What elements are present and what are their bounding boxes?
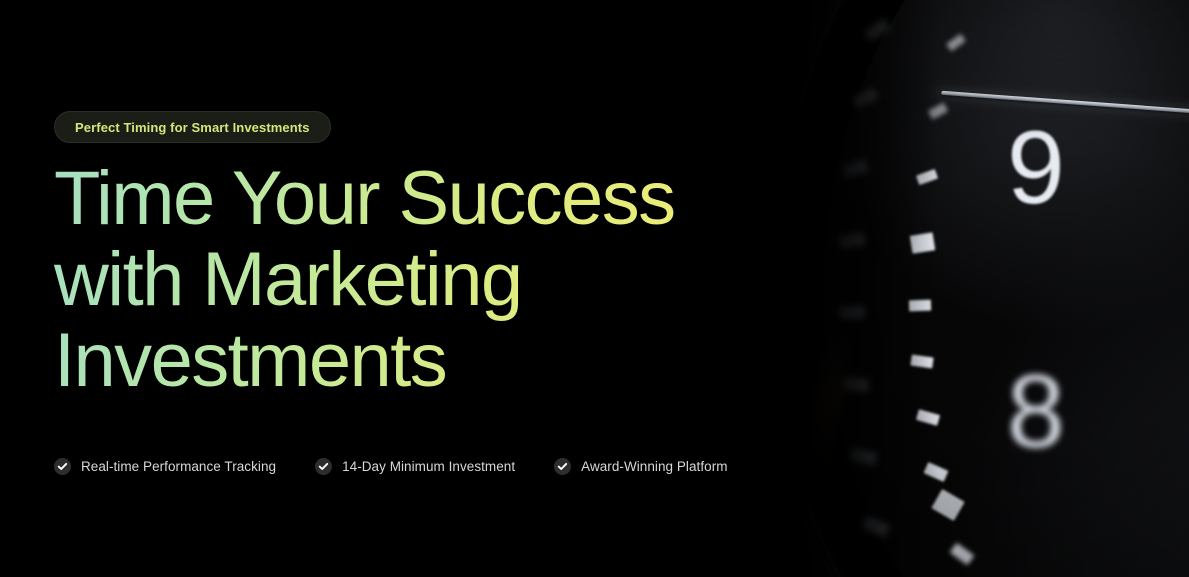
watch-numeral-8: 8 [1007, 360, 1065, 464]
watch-tick-inner [909, 300, 931, 312]
watch-face-macro-photo: 9 8 [769, 0, 1189, 577]
hero-content: Perfect Timing for Smart Investments Tim… [54, 0, 814, 577]
headline-line-2: with Marketing [54, 239, 754, 320]
feature-label: Award-Winning Platform [581, 459, 727, 474]
eyebrow-badge-label: Perfect Timing for Smart Investments [75, 120, 310, 135]
eyebrow-badge: Perfect Timing for Smart Investments [54, 111, 331, 143]
feature-item: 14-Day Minimum Investment [315, 458, 515, 475]
feature-label: Real-time Performance Tracking [81, 459, 276, 474]
page-title: Time Your Success with Marketing Investm… [54, 158, 754, 401]
hero-section: 9 8 Perfect Timing for Smart Investments… [0, 0, 1189, 577]
watch-numeral-9: 9 [1007, 116, 1065, 220]
watch-tick-outer [842, 377, 868, 393]
watch-tick-outer [839, 306, 864, 320]
check-circle-icon [315, 458, 332, 475]
check-circle-icon [54, 458, 71, 475]
headline-line-1: Time Your Success [54, 158, 754, 239]
feature-item: Real-time Performance Tracking [54, 458, 276, 475]
feature-label: 14-Day Minimum Investment [342, 459, 515, 474]
watch-bezel-highlight-secondary [769, 0, 1189, 577]
check-circle-icon [554, 458, 571, 475]
watch-tick-inner [910, 232, 936, 253]
feature-item: Award-Winning Platform [554, 458, 727, 475]
headline-line-3: Investments [54, 320, 754, 401]
feature-list: Real-time Performance Tracking 14-Day Mi… [54, 458, 728, 475]
